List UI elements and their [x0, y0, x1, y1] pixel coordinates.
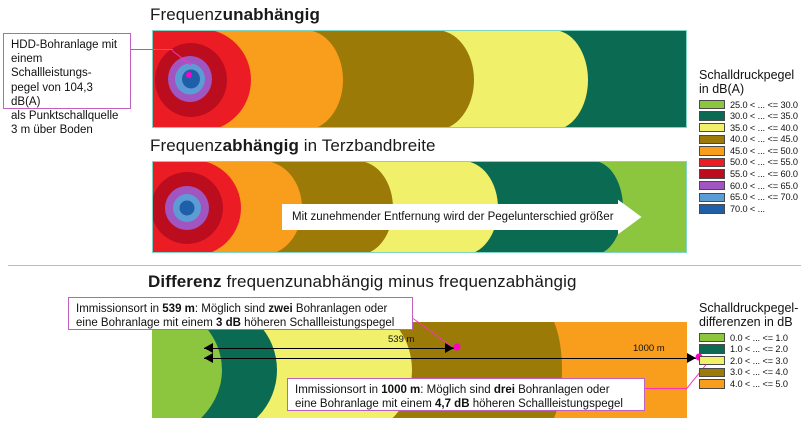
callout-1000: Immissionsort in 1000 m: Möglich sind dr…: [287, 378, 645, 411]
callout-source-line5: 3 m über Boden: [11, 123, 124, 137]
legend-level-label-6: 55.0 < ... <= 60.0: [730, 169, 798, 179]
measure-line-539: [204, 348, 454, 349]
c539-e: Bohranlagen oder: [293, 303, 388, 315]
callout-source: HDD-Bohranlage mit einem Schallleistungs…: [3, 33, 131, 109]
legend-level-swatch-9: [699, 204, 725, 214]
legend-level-label-8: 65.0 < ... <= 70.0: [730, 192, 798, 202]
callout-source-line2: einem Schallleistungs-: [11, 52, 124, 80]
contour-0-1-diff: [152, 322, 222, 418]
title-suffix-3: frequenzunabhängig minus frequenzabhängi…: [222, 272, 577, 291]
contour-45-50: [267, 30, 343, 128]
legend-level-item-5: 50.0 < ... <= 55.0: [699, 157, 807, 168]
banner-pegelunterschied: Mit zunehmender Entfernung wird der Pege…: [282, 197, 642, 237]
callout-source-line1: HDD-Bohranlage mit: [11, 38, 124, 52]
callout-1000-line2: eine Bohranlage mit einem 4,7 dB höheren…: [295, 397, 638, 411]
legend-diff-rows: 0.0 < ... <= 1.01.0 < ... <= 2.02.0 < ..…: [699, 332, 807, 389]
legend-level-item-7: 60.0 < ... <= 65.0: [699, 180, 807, 191]
legend-level-label-5: 50.0 < ... <= 55.0: [730, 157, 798, 167]
contour-40-45: [398, 30, 474, 128]
legend-diff-swatch-2: [699, 356, 725, 366]
legend-level-title-1: Schalldruckpegel: [699, 68, 807, 82]
legend-level-swatch-8: [699, 193, 725, 203]
legend-diff-item-4: 4.0 < ... <= 5.0: [699, 378, 807, 389]
section-divider: [8, 265, 801, 266]
legend-level-swatch-1: [699, 111, 725, 121]
legend-diff-label-4: 4.0 < ... <= 5.0: [730, 379, 788, 389]
legend-level-label-3: 40.0 < ... <= 45.0: [730, 134, 798, 144]
callout-539-line2: eine Bohranlage mit einem 3 dB höheren S…: [76, 316, 406, 330]
c1000-c: : Möglich sind: [420, 384, 494, 396]
legend-level-label-0: 25.0 < ... <= 30.0: [730, 100, 798, 110]
legend-level-rows: 25.0 < ... <= 30.030.0 < ... <= 35.035.0…: [699, 99, 807, 214]
marker-539: [454, 344, 461, 351]
panel-title-frequenzunabhaengig: Frequenzunabhängig: [150, 5, 320, 25]
c539-g: 3 dB: [216, 317, 241, 329]
callout-539-line1: Immissionsort in 539 m: Möglich sind zwe…: [76, 302, 406, 316]
legend-level-label-7: 60.0 < ... <= 65.0: [730, 181, 798, 191]
legend-diff-swatch-4: [699, 379, 725, 389]
banner-text: Mit zunehmender Entfernung wird der Pege…: [292, 211, 614, 223]
c539-a: Immissionsort in: [76, 303, 162, 315]
banner-text-box: Mit zunehmender Entfernung wird der Pege…: [282, 204, 618, 230]
legend-level-item-6: 55.0 < ... <= 60.0: [699, 169, 807, 180]
legend-diff-title-2: differenzen in dB: [699, 315, 807, 329]
legend-level-item-0: 25.0 < ... <= 30.0: [699, 99, 807, 110]
c539-c: : Möglich sind: [195, 303, 269, 315]
title-suffix-2: in Terzbandbreite: [299, 136, 436, 155]
legend-diff-swatch-3: [699, 368, 725, 378]
legend-diff-item-2: 2.0 < ... <= 3.0: [699, 355, 807, 366]
legend-schalldruckpegel: Schalldruckpegel in dB(A) 25.0 < ... <= …: [699, 68, 807, 215]
legend-diff-item-3: 3.0 < ... <= 4.0: [699, 367, 807, 378]
legend-level-swatch-7: [699, 181, 725, 191]
c539-b: 539 m: [162, 303, 195, 315]
contour-over-70-mid: [180, 201, 195, 216]
legend-level-swatch-6: [699, 169, 725, 179]
legend-diff-label-0: 0.0 < ... <= 1.0: [730, 333, 788, 343]
title-bold-2: abhängig: [223, 136, 299, 155]
legend-level-label-2: 35.0 < ... <= 40.0: [730, 123, 798, 133]
legend-diff-label-1: 1.0 < ... <= 2.0: [730, 344, 788, 354]
title-prefix: Frequenz: [150, 5, 223, 24]
legend-level-item-2: 35.0 < ... <= 40.0: [699, 122, 807, 133]
legend-diff-label-2: 2.0 < ... <= 3.0: [730, 356, 788, 366]
legend-level-label-4: 45.0 < ... <= 50.0: [730, 146, 798, 156]
banner-arrow-head-icon: [618, 197, 642, 237]
legend-schalldruckpegeldifferenzen: Schalldruckpegel- differenzen in dB 0.0 …: [699, 301, 807, 390]
legend-level-item-4: 45.0 < ... <= 50.0: [699, 145, 807, 156]
legend-level-swatch-2: [699, 123, 725, 133]
c1000-b: 1000 m: [381, 384, 420, 396]
c1000-a: Immissionsort in: [295, 384, 381, 396]
title-bold-3: Differenz: [148, 272, 222, 291]
c1000-h: höheren Schallleistungspegel: [470, 398, 623, 410]
legend-level-swatch-4: [699, 146, 725, 156]
legend-diff-swatch-0: [699, 333, 725, 343]
legend-level-item-9: 70.0 < ...: [699, 203, 807, 214]
callout-539: Immissionsort in 539 m: Möglich sind zwe…: [68, 297, 413, 330]
legend-level-item-1: 30.0 < ... <= 35.0: [699, 111, 807, 122]
legend-level-item-3: 40.0 < ... <= 45.0: [699, 134, 807, 145]
legend-level-swatch-3: [699, 135, 725, 145]
c539-f: eine Bohranlage mit einem: [76, 317, 216, 329]
c1000-e: Bohranlagen oder: [515, 384, 610, 396]
c539-h: höheren Schallleistungspegel: [241, 317, 394, 329]
callout-source-leader-h: [131, 49, 173, 50]
legend-diff-item-1: 1.0 < ... <= 2.0: [699, 344, 807, 355]
measure-arrowhead-1000-right: [687, 353, 696, 363]
c1000-d: drei: [494, 384, 515, 396]
legend-level-label-1: 30.0 < ... <= 35.0: [730, 111, 798, 121]
contour-35-40: [518, 30, 588, 128]
callout-source-line4: als Punktschallquelle: [11, 109, 124, 123]
measure-label-1000: 1000 m: [633, 343, 665, 354]
measure-label-539: 539 m: [388, 334, 414, 345]
c539-d: zwei: [268, 303, 292, 315]
map-frequenzunabhaengig[interactable]: [152, 30, 687, 128]
c1000-f: eine Bohranlage mit einem: [295, 398, 435, 410]
callout-source-line3: pegel von 104,3 dB(A): [11, 81, 124, 109]
callout-1000-leader-h: [645, 388, 687, 389]
legend-level-label-9: 70.0 < ...: [730, 204, 765, 214]
measure-line-1000: [204, 358, 696, 359]
title-bold: unabhängig: [223, 5, 320, 24]
legend-diff-title-1: Schalldruckpegel-: [699, 301, 807, 315]
legend-level-swatch-5: [699, 158, 725, 168]
legend-level-title-2: in dB(A): [699, 82, 807, 96]
legend-level-swatch-0: [699, 100, 725, 110]
callout-1000-line1: Immissionsort in 1000 m: Möglich sind dr…: [295, 383, 638, 397]
panel-title-frequenzabhaengig: Frequenzabhängig in Terzbandbreite: [150, 136, 436, 156]
c1000-g: 4,7 dB: [435, 398, 470, 410]
legend-diff-swatch-1: [699, 344, 725, 354]
title-prefix-2: Frequenz: [150, 136, 223, 155]
legend-diff-label-3: 3.0 < ... <= 4.0: [730, 367, 788, 377]
panel-title-differenz: Differenz frequenzunabhängig minus frequ…: [148, 272, 577, 292]
source-marker: [186, 72, 192, 78]
legend-level-item-8: 65.0 < ... <= 70.0: [699, 192, 807, 203]
legend-diff-item-0: 0.0 < ... <= 1.0: [699, 332, 807, 343]
